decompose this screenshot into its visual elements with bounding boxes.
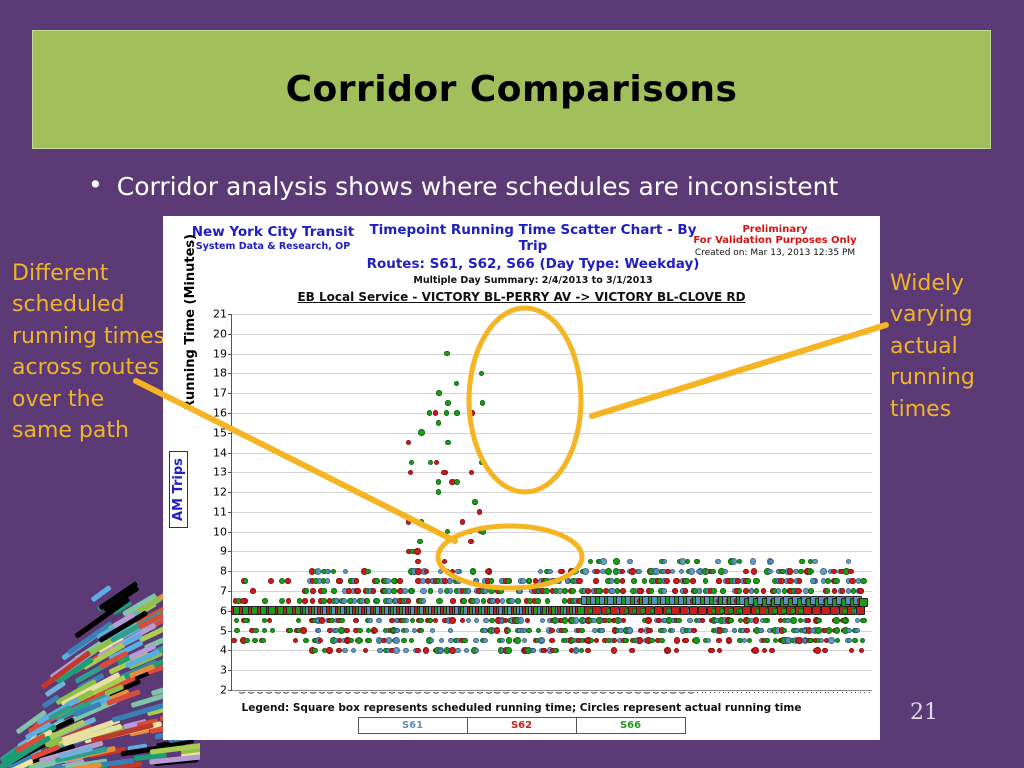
y-tick-mark <box>228 631 232 632</box>
scatter-point-s62 <box>326 647 333 654</box>
gridline <box>232 492 872 493</box>
scatter-point-s61 <box>404 618 410 624</box>
scheduled-marker-s62 <box>856 606 865 615</box>
scatter-point-s62 <box>286 598 292 604</box>
scatter-point-s66 <box>409 638 415 644</box>
plot-wrapper: Running Time (Minutes) AM Trips 23456789… <box>163 314 880 704</box>
scatter-point-s66 <box>262 628 268 634</box>
scatter-point-s61 <box>500 598 506 604</box>
scatter-point-s66 <box>436 420 442 426</box>
scatter-point-s62 <box>310 588 316 594</box>
scatter-point-s62 <box>468 539 474 545</box>
x-tick-label: 053000 <box>335 692 344 694</box>
slide-title-banner: Corridor Comparisons <box>32 30 991 149</box>
scatter-point-s61 <box>343 569 349 575</box>
x-tick-label: 033300 <box>282 692 291 694</box>
scatter-point-s66 <box>366 638 372 644</box>
scatter-point-s62 <box>797 578 803 584</box>
scatter-point-s66 <box>480 528 487 535</box>
scatter-point-s61 <box>573 569 579 575</box>
scatter-point-s66 <box>596 588 602 594</box>
gridline <box>232 532 872 533</box>
scatter-point-s62 <box>406 598 412 604</box>
x-tick-label: 092800 <box>643 692 652 694</box>
scatter-point-s62 <box>363 648 369 654</box>
y-tick-label: 19 <box>213 347 227 360</box>
scatter-point-s62 <box>753 617 760 624</box>
scatter-point-s61 <box>352 598 358 604</box>
scatter-point-s66 <box>747 638 753 644</box>
scatter-point-s66 <box>234 618 240 624</box>
scatter-point-s62 <box>751 568 758 575</box>
y-tick-label: 21 <box>213 308 227 321</box>
y-tick-label: 7 <box>220 585 227 598</box>
scatter-point-s62 <box>460 519 466 525</box>
scatter-point-s61 <box>723 628 729 634</box>
x-tick-label: 053800 <box>344 692 353 694</box>
scatter-point-s66 <box>833 617 840 624</box>
scatter-point-s66 <box>436 598 443 605</box>
scatter-point-s62 <box>549 638 555 644</box>
scatter-point-s66 <box>649 638 655 644</box>
scatter-point-s61 <box>687 618 693 624</box>
scatter-point-s61 <box>315 568 322 575</box>
x-tick-label: 095500 <box>669 692 678 694</box>
scatter-point-s61 <box>395 628 401 634</box>
scatter-point-s66 <box>401 638 407 644</box>
scatter-point-s66 <box>860 578 867 585</box>
y-tick-label: 14 <box>213 446 227 459</box>
scatter-point-s61 <box>455 569 461 575</box>
scatter-point-s66 <box>754 588 760 594</box>
scheduled-marker-s66 <box>859 598 868 607</box>
scatter-point-s62 <box>683 588 689 594</box>
scatter-point-s66 <box>260 638 266 644</box>
scatter-point-s66 <box>536 628 542 634</box>
scatter-point-s62 <box>441 470 447 476</box>
scatter-point-s61 <box>466 588 472 594</box>
scatter-point-s62 <box>310 598 316 604</box>
scatter-point-s61 <box>403 648 409 654</box>
scatter-point-s66 <box>745 578 751 584</box>
gridline <box>232 413 872 414</box>
scatter-point-s66 <box>356 637 363 644</box>
scatter-point-s66 <box>243 578 249 584</box>
scatter-point-s66 <box>479 371 485 377</box>
scatter-point-s62 <box>716 638 722 644</box>
scatter-point-s62 <box>814 647 821 654</box>
scatter-point-s66 <box>527 578 533 584</box>
agency-block: New York City Transit System Data & Rese… <box>183 224 363 252</box>
scatter-point-s66 <box>693 637 700 644</box>
scatter-point-s66 <box>579 628 585 634</box>
y-tick-label: 4 <box>220 644 227 657</box>
scatter-point-s66 <box>498 588 504 594</box>
scatter-point-s62 <box>743 588 749 594</box>
y-tick-label: 11 <box>213 505 227 518</box>
scatter-point-s61 <box>518 617 525 624</box>
scatter-point-s66 <box>728 618 734 624</box>
scatter-point-s62 <box>415 559 421 565</box>
scatter-point-s61 <box>316 628 322 634</box>
scatter-point-s66 <box>445 529 451 535</box>
scatter-point-s66 <box>825 588 831 594</box>
scatter-point-s66 <box>642 578 648 584</box>
scatter-point-s61 <box>767 569 773 575</box>
gridline <box>232 354 872 355</box>
gridline <box>232 373 872 374</box>
x-tick-label: 075700 <box>537 692 546 694</box>
scatter-point-s61 <box>706 638 712 644</box>
x-tick-label: 060800 <box>388 692 397 694</box>
scatter-point-s62 <box>433 618 439 624</box>
x-tick-label: 050300 <box>309 692 318 694</box>
scatter-point-s62 <box>848 569 854 575</box>
agency-name: New York City Transit <box>183 224 363 240</box>
y-tick-label: 12 <box>213 486 227 499</box>
scatter-point-s66 <box>349 638 355 644</box>
scatter-point-s61 <box>810 578 816 584</box>
y-tick-label: 16 <box>213 406 227 419</box>
legend-entry-s66: S66 <box>577 717 686 734</box>
scatter-point-s62 <box>231 638 237 644</box>
gridline <box>232 512 872 513</box>
scatter-point-s66 <box>303 638 309 644</box>
scatter-point-s66 <box>588 559 594 565</box>
scatter-point-s61 <box>758 628 764 634</box>
scatter-point-s66 <box>428 588 434 594</box>
scatter-point-s66 <box>331 569 337 575</box>
scatter-point-s62 <box>371 588 377 594</box>
x-tick-label: 052300 <box>326 692 335 694</box>
x-tick-label: 075900 <box>546 692 555 694</box>
scatter-point-s62 <box>353 618 359 624</box>
x-tick-label: 101300 <box>704 692 713 694</box>
scatter-point-s66 <box>436 390 442 396</box>
scheduled-marker-s62 <box>654 606 663 615</box>
scatter-point-s66 <box>279 578 286 585</box>
scatter-point-s62 <box>629 648 635 654</box>
y-tick-mark <box>228 690 232 691</box>
scatter-point-s62 <box>485 569 491 575</box>
am-trips-badge: AM Trips <box>169 451 188 528</box>
x-tick-label: 082700 <box>555 692 564 694</box>
scatter-point-s61 <box>750 558 757 565</box>
scatter-point-s62 <box>690 578 696 584</box>
created-on: Created on: Mar 13, 2013 12:35 PM <box>680 248 870 258</box>
scatter-point-s62 <box>743 569 749 575</box>
scatter-point-s66 <box>545 598 551 604</box>
scatter-point-s61 <box>732 628 738 634</box>
scatter-point-s66 <box>419 519 425 525</box>
y-tick-mark <box>228 354 232 355</box>
y-tick-mark <box>228 512 232 513</box>
chart-header: New York City Transit System Data & Rese… <box>163 216 880 294</box>
x-tick-label: 003300 <box>256 692 265 694</box>
scatter-point-s66 <box>834 627 841 634</box>
scatter-point-s62 <box>840 588 846 594</box>
scatter-point-s66 <box>253 628 259 634</box>
x-tick-label: 062100 <box>423 692 432 694</box>
x-tick-label: 072700 <box>511 692 520 694</box>
gridline <box>232 314 872 315</box>
chart-title-line1: Timepoint Running Time Scatter Chart - B… <box>363 222 703 254</box>
scatter-point-s66 <box>461 598 467 604</box>
scatter-point-s66 <box>234 628 240 634</box>
y-tick-mark <box>228 393 232 394</box>
scatter-point-s66 <box>676 618 682 624</box>
scatter-point-s66 <box>562 588 568 594</box>
x-tick-label: 114300 <box>836 692 845 694</box>
scatter-point-s62 <box>612 638 618 644</box>
scatter-point-s62 <box>726 638 732 644</box>
scatter-point-s66 <box>409 460 415 466</box>
scatter-point-s61 <box>600 558 607 565</box>
scatter-point-s66 <box>835 638 841 644</box>
scatter-point-s62 <box>594 638 600 644</box>
scatter-point-s66 <box>279 598 286 605</box>
scatter-point-s66 <box>444 410 450 416</box>
scheduled-marker-s62 <box>698 606 707 615</box>
scatter-point-s66 <box>321 588 327 594</box>
scatter-point-s61 <box>522 638 528 644</box>
plot-area: 23456789101112131415161718192021 <box>231 314 872 691</box>
scatter-point-s61 <box>846 559 852 565</box>
x-tick-label: 055300 <box>370 692 379 694</box>
scatter-point-s66 <box>711 588 717 594</box>
scatter-point-s66 <box>562 628 568 634</box>
scatter-point-s61 <box>447 578 454 585</box>
scatter-point-s66 <box>365 569 371 575</box>
scatter-point-s62 <box>849 648 855 654</box>
scatter-point-s61 <box>565 578 571 584</box>
scatter-point-s66 <box>304 588 310 594</box>
x-tick-label: 085500 <box>590 692 599 694</box>
scatter-point-s66 <box>515 598 521 604</box>
scatter-point-s61 <box>854 628 860 634</box>
scatter-point-s61 <box>438 569 444 575</box>
scheduled-marker-s62 <box>689 606 698 615</box>
scheduled-marker-s62 <box>671 606 680 615</box>
scatter-point-s66 <box>454 479 461 486</box>
scatter-point-s61 <box>466 618 472 624</box>
scatter-point-s62 <box>611 647 618 654</box>
scatter-point-s61 <box>539 638 545 644</box>
scatter-point-s66 <box>444 569 450 575</box>
scatter-point-s66 <box>410 618 416 624</box>
scatter-point-s62 <box>318 638 324 644</box>
legend-description: Legend: Square box represents scheduled … <box>163 702 880 714</box>
scatter-point-s61 <box>696 569 702 575</box>
scatter-point-s61 <box>573 617 580 624</box>
scatter-point-s66 <box>720 588 726 594</box>
y-axis-label: Running Time (Minutes) <box>183 234 198 410</box>
scatter-point-s66 <box>703 578 709 584</box>
scatter-point-s61 <box>325 578 331 584</box>
x-tick-label: 102700 <box>722 692 731 694</box>
scatter-point-s66 <box>481 598 487 604</box>
y-tick-mark <box>228 492 232 493</box>
x-tick-label: 095800 <box>687 692 696 694</box>
y-tick-label: 3 <box>220 664 227 677</box>
x-tick-label: 112500 <box>801 692 810 694</box>
scatter-point-s61 <box>421 598 427 604</box>
chart-title-line2: Routes: S61, S62, S66 (Day Type: Weekday… <box>363 256 703 272</box>
scatter-point-s66 <box>339 618 345 624</box>
scatter-point-s62 <box>372 628 378 634</box>
scatter-point-s61 <box>474 598 480 604</box>
scatter-point-s61 <box>474 578 480 584</box>
scatter-point-s62 <box>761 588 767 594</box>
scatter-point-s61 <box>430 628 436 634</box>
x-tick-label: 062700 <box>432 692 441 694</box>
scatter-point-s62 <box>859 648 865 654</box>
scatter-point-s62 <box>795 588 802 595</box>
x-tick-label: 102800 <box>731 692 740 694</box>
scatter-point-s66 <box>543 588 550 595</box>
x-tick-label: 115800 <box>863 692 872 694</box>
x-tick-label: 102500 <box>713 692 722 694</box>
scatter-point-s62 <box>494 627 501 634</box>
x-tick-label: 104300 <box>748 692 757 694</box>
x-tick-label: 065500 <box>467 692 476 694</box>
agency-department: System Data & Research, OP <box>183 241 363 252</box>
scatter-point-s61 <box>828 637 835 644</box>
scatter-point-s62 <box>433 410 439 416</box>
scatter-point-s61 <box>556 578 562 584</box>
scatter-point-s62 <box>344 628 350 634</box>
scatter-point-s62 <box>414 548 421 555</box>
scatter-point-s62 <box>585 588 591 594</box>
scatter-point-s62 <box>355 588 361 594</box>
scatter-point-s66 <box>659 638 665 644</box>
scatter-point-s66 <box>244 638 250 644</box>
scatter-point-s66 <box>252 638 258 644</box>
y-tick-label: 6 <box>220 604 227 617</box>
x-tick-label: 095700 <box>678 692 687 694</box>
scatter-point-s62 <box>467 529 473 535</box>
scatter-point-s61 <box>538 569 544 575</box>
scatter-point-s66 <box>798 569 804 575</box>
bullet-text: Corridor analysis shows where schedules … <box>117 172 839 201</box>
scatter-point-s66 <box>445 440 451 446</box>
scatter-point-s61 <box>342 648 348 654</box>
y-tick-mark <box>228 551 232 552</box>
scatter-point-s61 <box>420 588 427 595</box>
scatter-point-s61 <box>670 628 676 634</box>
x-tick-label: 115700 <box>854 692 863 694</box>
scatter-point-s66 <box>852 638 858 644</box>
scatter-point-s61 <box>376 618 382 624</box>
scatter-point-s61 <box>455 578 462 585</box>
scatter-point-s61 <box>662 628 668 634</box>
scatter-point-s62 <box>525 618 531 624</box>
scatter-point-s62 <box>300 627 307 634</box>
scatter-point-s61 <box>393 647 400 654</box>
scatter-point-s61 <box>661 588 667 594</box>
scatter-point-s61 <box>540 618 546 624</box>
scatter-point-s62 <box>576 578 583 585</box>
scatter-point-s66 <box>808 588 814 594</box>
scatter-point-s66 <box>790 617 797 624</box>
scatter-point-s66 <box>454 410 460 416</box>
x-tick-label: 065700 <box>476 692 485 694</box>
scatter-point-s61 <box>438 588 444 594</box>
scatter-point-s61 <box>670 569 676 575</box>
scatter-point-s66 <box>737 588 743 594</box>
scatter-point-s61 <box>474 648 480 654</box>
scatter-point-s61 <box>377 648 383 654</box>
scatter-point-s62 <box>415 648 421 654</box>
scatter-point-s61 <box>404 628 410 634</box>
scatter-point-s62 <box>469 470 475 476</box>
scatter-point-s61 <box>688 568 695 575</box>
gridline <box>232 690 872 691</box>
scatter-point-s61 <box>448 628 454 634</box>
scatter-point-s62 <box>477 509 483 515</box>
x-tick-label: 074100 <box>520 692 529 694</box>
scatter-point-s61 <box>547 569 553 575</box>
x-tick-label: 092700 <box>634 692 643 694</box>
scatter-point-s66 <box>506 637 513 644</box>
scatter-point-s62 <box>293 638 299 644</box>
y-tick-label: 5 <box>220 624 227 637</box>
scatter-point-s62 <box>549 628 555 634</box>
scatter-point-s61 <box>847 638 853 644</box>
validation-note: For Validation Purposes Only <box>680 235 870 246</box>
gridline <box>232 670 872 671</box>
scatter-point-s66 <box>506 578 512 584</box>
scatter-point-s62 <box>585 648 591 654</box>
scatter-point-s62 <box>832 588 838 594</box>
scatter-point-s66 <box>391 588 397 594</box>
scatter-point-s62 <box>744 628 750 634</box>
scatter-point-s62 <box>460 618 466 624</box>
y-tick-mark <box>228 453 232 454</box>
scatter-point-s66 <box>782 628 788 634</box>
slide-page-number: 21 <box>910 700 938 725</box>
x-tick-label: 092500 <box>625 692 634 694</box>
x-tick-label: 072600 <box>502 692 511 694</box>
scatter-point-s62 <box>762 648 768 654</box>
scatter-point-s61 <box>715 559 721 565</box>
legend-entries: S61S62S66 <box>163 717 880 734</box>
y-tick-mark <box>228 571 232 572</box>
scheduled-marker-s62 <box>742 606 751 615</box>
scatter-point-s61 <box>776 588 782 594</box>
x-tick-label: 105700 <box>766 692 775 694</box>
chart-date-range: Multiple Day Summary: 2/4/2013 to 3/1/20… <box>363 275 703 286</box>
scatter-point-s62 <box>442 559 448 565</box>
y-tick-label: 13 <box>213 466 227 479</box>
scatter-point-s66 <box>506 628 512 634</box>
scatter-point-s62 <box>822 648 828 654</box>
gridline <box>232 334 872 335</box>
gridline <box>232 433 872 434</box>
x-tick-label: 112700 <box>810 692 819 694</box>
bullet-marker: • <box>88 172 103 197</box>
legend-entry-s62: S62 <box>468 717 577 734</box>
scatter-point-s61 <box>351 648 357 654</box>
scatter-point-s61 <box>393 637 400 644</box>
y-tick-mark <box>228 314 232 315</box>
bullet-line: • Corridor analysis shows where schedule… <box>88 172 988 201</box>
scatter-point-s62 <box>849 578 856 585</box>
scatter-point-s61 <box>402 588 408 594</box>
annotation-left: Different scheduled running times across… <box>12 258 170 447</box>
scatter-point-s62 <box>637 588 643 594</box>
scatter-point-s61 <box>474 618 480 624</box>
